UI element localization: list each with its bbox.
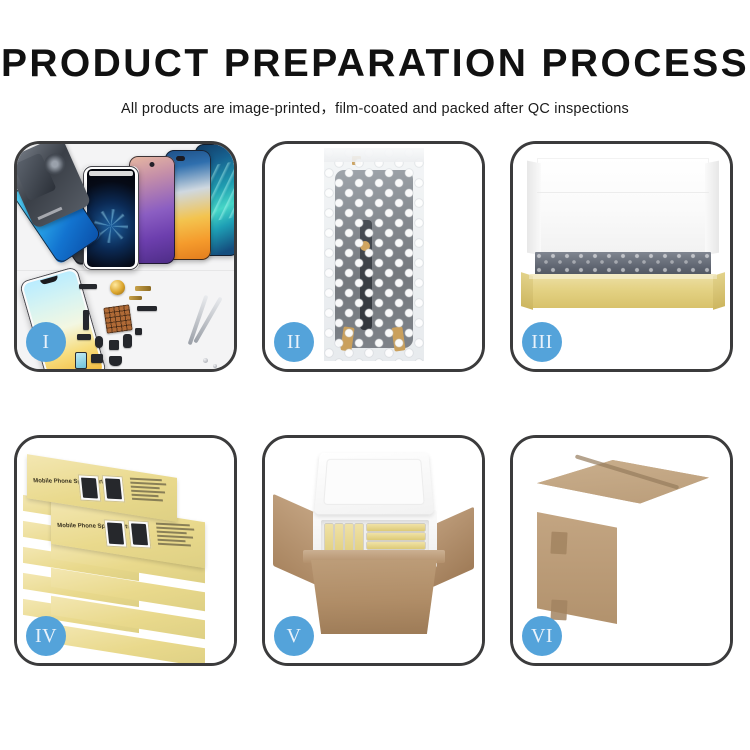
display-assembly-black <box>83 166 139 270</box>
yellow-box-base <box>529 274 717 308</box>
box-print-window-1a <box>78 474 102 501</box>
process-step-2[interactable]: II <box>262 141 485 372</box>
carton-body <box>311 560 437 634</box>
page-subtitle: All products are image-printed，film-coat… <box>0 83 750 118</box>
box-print-window-1b <box>102 475 126 502</box>
process-step-4[interactable]: Mobile Phone Spare Parts Mobile Phone Sp… <box>14 435 237 666</box>
part-camera <box>109 340 119 350</box>
styrofoam-lid <box>314 453 434 515</box>
step-badge-2: II <box>274 322 314 362</box>
part-flex-1 <box>135 286 151 291</box>
step-badge-3: III <box>522 322 562 362</box>
part-receiver <box>109 356 122 366</box>
header: PRODUCT PREPARATION PROCESS All products… <box>0 0 750 118</box>
part-flex-3 <box>83 310 89 330</box>
part-copper-grid <box>103 304 132 333</box>
step-badge-4: IV <box>26 616 66 656</box>
step-badge-5: V <box>274 616 314 656</box>
part-vibrator <box>123 334 132 348</box>
box-foam-lid <box>537 158 709 264</box>
part-connector-2 <box>137 306 157 311</box>
packed-box-7 <box>367 542 425 549</box>
tweezer-tool <box>182 294 228 348</box>
process-step-grid: I II <box>14 141 736 696</box>
part-connector-1 <box>79 284 97 289</box>
part-screw-1 <box>203 358 208 363</box>
page-root: PRODUCT PREPARATION PROCESS All products… <box>0 0 750 750</box>
part-button <box>91 354 103 363</box>
step-badge-1: I <box>26 322 66 362</box>
part-mini-screen <box>75 352 87 369</box>
packed-box-6 <box>367 533 425 540</box>
part-speaker <box>95 336 103 348</box>
process-step-1[interactable]: I <box>14 141 237 372</box>
box-print-window-2a <box>104 519 128 547</box>
step-badge-6: VI <box>522 616 562 656</box>
part-connector-3 <box>77 334 91 340</box>
box-print-spec-1 <box>130 478 172 504</box>
part-flex-2 <box>129 296 142 300</box>
box-print-spec-2 <box>156 523 198 549</box>
shipping-carton <box>527 460 717 636</box>
process-step-3[interactable]: III <box>510 141 733 372</box>
process-step-5[interactable]: V <box>262 435 485 666</box>
box-print-window-2b <box>128 520 152 548</box>
part-chip <box>135 328 142 335</box>
page-title: PRODUCT PREPARATION PROCESS <box>0 0 750 83</box>
part-screw-2 <box>213 364 217 368</box>
packed-box-5 <box>367 524 425 531</box>
process-step-6[interactable]: VI <box>510 435 733 666</box>
part-gold-coil <box>110 280 125 295</box>
bubble-wrap-bag <box>324 148 424 361</box>
